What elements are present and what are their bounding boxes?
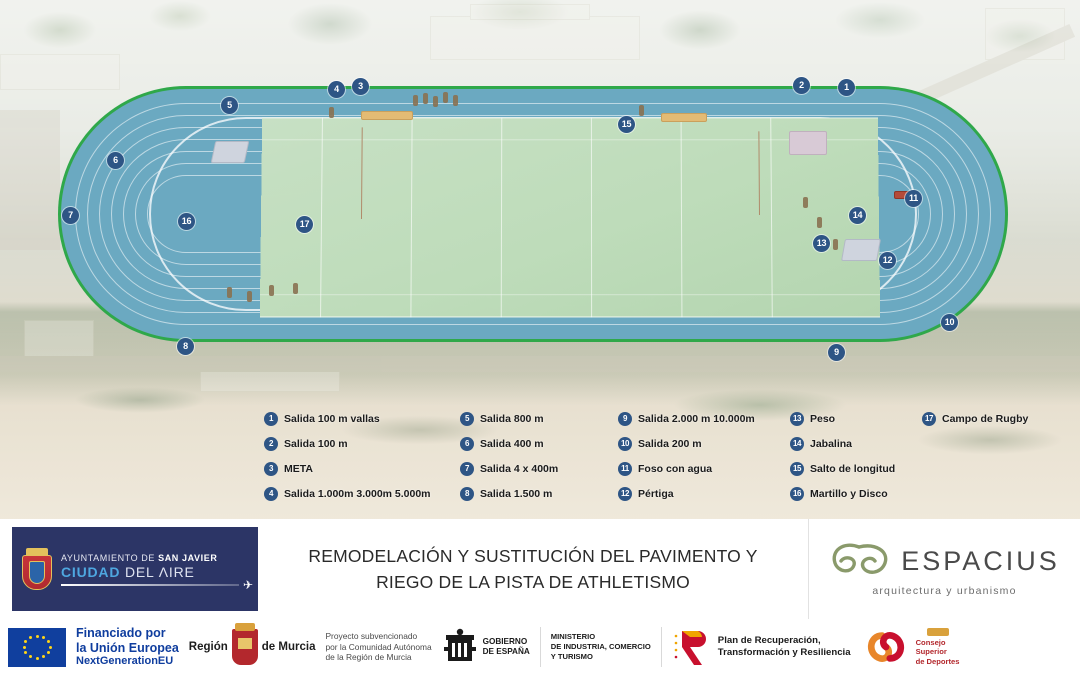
title-band: AYUNTAMIENTO DE SAN JAVIER CIUDAD DEL ΛI… <box>0 519 1080 619</box>
subsidy-note: Proyecto subvencionado por la Comunidad … <box>325 631 431 664</box>
plan-marker-17[interactable]: 17 <box>296 216 313 233</box>
legend-badge-8: 8 <box>460 487 474 501</box>
eu-star-icon <box>23 646 26 649</box>
muni-line-1: AYUNTAMIENTO DE SAN JAVIER <box>61 553 239 563</box>
legend-badge-15: 15 <box>790 462 804 476</box>
legend-badge-10: 10 <box>618 437 632 451</box>
espacius-studio-logo: ESPACIUS arquitectura y urbanismo <box>808 519 1080 619</box>
subsidy-line-2: por la Comunidad Autónoma <box>325 642 431 653</box>
ministerio-line-3: Y TURISMO <box>551 652 651 662</box>
footer-divider-2 <box>661 627 662 667</box>
project-title: REMODELACIÓN Y SUSTITUCIÓN DEL PAVIMENTO… <box>258 519 808 619</box>
legend-label-7: Salida 4 x 400m <box>480 463 558 475</box>
project-title-line-1: REMODELACIÓN Y SUSTITUCIÓN DEL PAVIMENTO… <box>308 546 757 567</box>
legend-item-12[interactable]: 12Pértiga <box>618 487 790 501</box>
legend-badge-12: 12 <box>618 487 632 501</box>
legend-item-17[interactable]: 17Campo de Rugby <box>922 412 1054 426</box>
plan-marker-4[interactable]: 4 <box>328 81 345 98</box>
legend-badge-9: 9 <box>618 412 632 426</box>
eu-star-icon <box>47 651 50 654</box>
footer-divider-1 <box>540 627 541 667</box>
project-board: 1234567891011121314151617 1Salida 100 m … <box>0 0 1080 675</box>
plan-marker-13[interactable]: 13 <box>813 235 830 252</box>
eu-line-1: Financiado por <box>76 626 179 640</box>
consejo-superior-deportes-logo: Consejo Superior de Deportes <box>861 628 960 666</box>
legend-item-16[interactable]: 16Martillo y Disco <box>790 487 922 501</box>
prtr-line-2: Transformación y Resiliencia <box>718 647 851 659</box>
legend-label-10: Salida 200 m <box>638 438 702 450</box>
san-javier-crest-icon <box>22 548 52 590</box>
legend-item-10[interactable]: 10Salida 200 m <box>618 437 790 451</box>
csd-line-3: de Deportes <box>916 657 960 666</box>
rugby-goal-post-left <box>361 127 363 219</box>
legend-item-8[interactable]: 8Salida 1.500 m <box>460 487 618 501</box>
csd-line-2: Superior <box>916 647 960 656</box>
legend-label-5: Salida 800 m <box>480 413 544 425</box>
plan-marker-9[interactable]: 9 <box>828 344 845 361</box>
plan-marker-12[interactable]: 12 <box>879 252 896 269</box>
plan-marker-3[interactable]: 3 <box>352 78 369 95</box>
long-jump-pit-secondary <box>661 113 707 122</box>
plan-marker-11[interactable]: 11 <box>905 190 922 207</box>
pole-vault-landing-mat <box>789 131 827 155</box>
plan-marker-16[interactable]: 16 <box>178 213 195 230</box>
eu-star-icon <box>47 640 50 643</box>
plan-marker-2[interactable]: 2 <box>793 77 810 94</box>
project-title-line-2: RIEGO DE LA PISTA DE ATHLETISMO <box>376 572 690 593</box>
muni-line-2: CIUDAD DEL ΛIRE <box>61 564 239 580</box>
eu-funding-text: Financiado por la Unión Europea NextGene… <box>76 626 179 667</box>
legend-item-9[interactable]: 9Salida 2.000 m 10.000m <box>618 412 790 426</box>
plan-marker-8[interactable]: 8 <box>177 338 194 355</box>
legend-item-14[interactable]: 14Jabalina <box>790 437 922 451</box>
csd-swirl-icon <box>861 628 911 666</box>
legend-item-5[interactable]: 5Salida 800 m <box>460 412 618 426</box>
legend-badge-14: 14 <box>790 437 804 451</box>
plan-legend: 1Salida 100 m vallas2Salida 100 m3META4S… <box>264 412 1054 512</box>
gobierno-line-1: GOBIERNO <box>483 637 530 647</box>
legend-item-3[interactable]: 3META <box>264 462 460 476</box>
san-javier-town-hall-logo: AYUNTAMIENTO DE SAN JAVIER CIUDAD DEL ΛI… <box>12 527 258 611</box>
espacius-swirl-icon <box>829 541 893 581</box>
legend-badge-13: 13 <box>790 412 804 426</box>
eu-star-icon <box>24 640 27 643</box>
legend-label-8: Salida 1.500 m <box>480 488 552 500</box>
legend-column-3: 9Salida 2.000 m 10.000m10Salida 200 m11F… <box>618 412 790 501</box>
subsidy-line-3: de la Región de Murcia <box>325 652 431 663</box>
legend-label-11: Foso con agua <box>638 463 712 475</box>
eu-line-2: la Unión Europea <box>76 641 179 655</box>
plan-marker-6[interactable]: 6 <box>107 152 124 169</box>
legend-column-1: 1Salida 100 m vallas2Salida 100 m3META4S… <box>264 412 460 501</box>
legend-label-13: Peso <box>810 413 835 425</box>
airplane-icon: ✈ <box>243 579 253 591</box>
murcia-prefix: Región <box>189 641 228 653</box>
high-jump-mat <box>211 141 250 163</box>
spain-coat-of-arms-icon <box>442 627 478 667</box>
csd-crown-icon <box>927 628 949 636</box>
legend-item-15[interactable]: 15Salto de longitud <box>790 462 922 476</box>
rugby-pitch-infield <box>260 117 880 317</box>
muni-underline: ✈ <box>61 584 239 586</box>
legend-badge-2: 2 <box>264 437 278 451</box>
legend-badge-11: 11 <box>618 462 632 476</box>
legend-label-1: Salida 100 m vallas <box>284 413 380 425</box>
plan-marker-1[interactable]: 1 <box>838 79 855 96</box>
legend-item-7[interactable]: 7Salida 4 x 400m <box>460 462 618 476</box>
ministerio-line-1: MINISTERIO <box>551 632 651 642</box>
rugby-goal-post-right <box>758 131 760 215</box>
plan-marker-7[interactable]: 7 <box>62 207 79 224</box>
legend-label-2: Salida 100 m <box>284 438 348 450</box>
legend-label-14: Jabalina <box>810 438 852 450</box>
plan-marker-10[interactable]: 10 <box>941 314 958 331</box>
prtr-logo: Plan de Recuperación, Transformación y R… <box>672 627 851 667</box>
region-de-murcia-logo: Región de Murcia <box>189 629 316 665</box>
legend-badge-7: 7 <box>460 462 474 476</box>
eu-star-icon <box>24 651 27 654</box>
legend-badge-5: 5 <box>460 412 474 426</box>
legend-column-5: 17Campo de Rugby <box>922 412 1054 501</box>
legend-column-4: 13Peso14Jabalina15Salto de longitud16Mar… <box>790 412 922 501</box>
legend-item-1[interactable]: 1Salida 100 m vallas <box>264 412 460 426</box>
eu-star-icon <box>29 636 32 639</box>
legend-badge-16: 16 <box>790 487 804 501</box>
espacius-wordmark: ESPACIUS <box>901 546 1060 577</box>
subsidy-line-1: Proyecto subvencionado <box>325 631 431 642</box>
murcia-crest-icon <box>232 629 258 665</box>
eu-star-icon <box>49 646 52 649</box>
eu-star-icon <box>42 655 45 658</box>
legend-item-13[interactable]: 13Peso <box>790 412 922 426</box>
espacius-tagline: arquitectura y urbanismo <box>872 585 1016 597</box>
prtr-r-mark-icon <box>672 627 712 667</box>
eu-flag-icon <box>8 628 66 667</box>
legend-label-16: Martillo y Disco <box>810 488 888 500</box>
long-jump-pit <box>361 111 413 120</box>
legend-badge-6: 6 <box>460 437 474 451</box>
legend-item-2[interactable]: 2Salida 100 m <box>264 437 460 451</box>
legend-label-9: Salida 2.000 m 10.000m <box>638 413 755 425</box>
eu-star-icon <box>36 657 39 660</box>
legend-label-4: Salida 1.000m 3.000m 5.000m <box>284 488 431 500</box>
legend-item-4[interactable]: 4Salida 1.000m 3.000m 5.000m <box>264 487 460 501</box>
eu-star-icon <box>29 655 32 658</box>
legend-label-15: Salto de longitud <box>810 463 895 475</box>
gobierno-line-2: DE ESPAÑA <box>483 647 530 657</box>
plan-marker-15[interactable]: 15 <box>618 116 635 133</box>
plan-marker-14[interactable]: 14 <box>849 207 866 224</box>
legend-label-17: Campo de Rugby <box>942 413 1028 425</box>
legend-column-2: 5Salida 800 m6Salida 400 m7Salida 4 x 40… <box>460 412 618 501</box>
ministerio-line-2: DE INDUSTRIA, COMERCIO <box>551 642 651 652</box>
eu-line-3: NextGenerationEU <box>76 655 179 668</box>
ministerio-block: MINISTERIO DE INDUSTRIA, COMERCIO Y TURI… <box>551 632 651 662</box>
legend-label-12: Pértiga <box>638 488 674 500</box>
legend-badge-4: 4 <box>264 487 278 501</box>
legend-badge-17: 17 <box>922 412 936 426</box>
eu-star-icon <box>42 636 45 639</box>
legend-item-6[interactable]: 6Salida 400 m <box>460 437 618 451</box>
legend-label-3: META <box>284 463 313 475</box>
funding-footer: Financiado por la Unión Europea NextGene… <box>0 619 1080 675</box>
legend-badge-1: 1 <box>264 412 278 426</box>
plan-marker-5[interactable]: 5 <box>221 97 238 114</box>
murcia-suffix: de Murcia <box>262 641 316 653</box>
legend-item-11[interactable]: 11Foso con agua <box>618 462 790 476</box>
csd-line-1: Consejo <box>916 638 960 647</box>
legend-badge-3: 3 <box>264 462 278 476</box>
legend-label-6: Salida 400 m <box>480 438 544 450</box>
gobierno-de-espana-logo: GOBIERNO DE ESPAÑA <box>442 627 530 667</box>
prtr-line-1: Plan de Recuperación, <box>718 635 851 647</box>
eu-star-icon <box>36 635 39 638</box>
pole-vault-runway-mat <box>841 239 881 261</box>
